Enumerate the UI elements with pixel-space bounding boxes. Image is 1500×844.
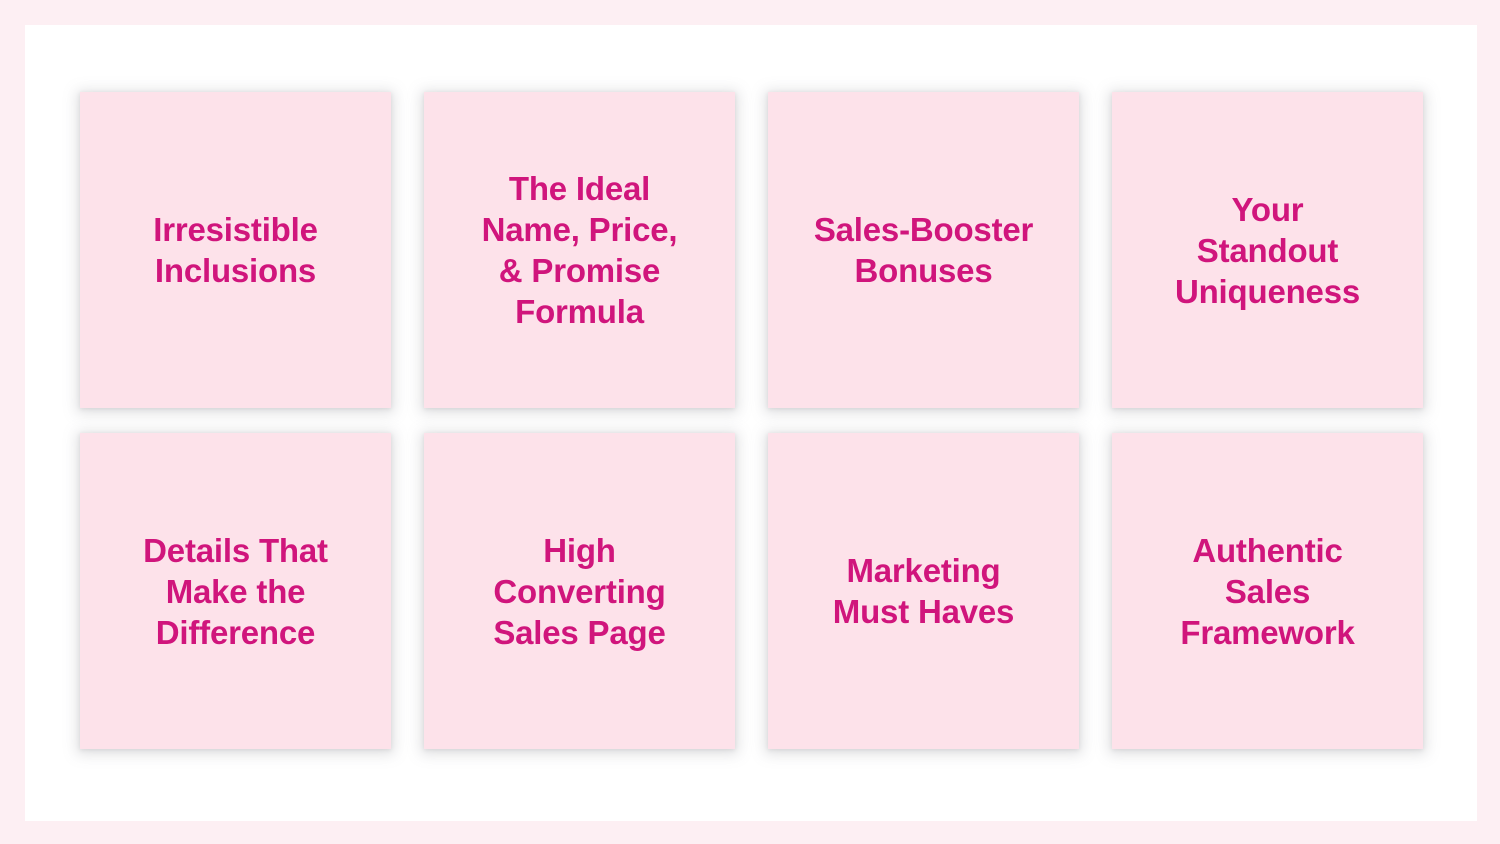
module-card-authentic-sales-framework[interactable]: Authentic Sales Framework (1112, 433, 1423, 749)
module-card-irresistible-inclusions[interactable]: Irresistible Inclusions (80, 92, 391, 408)
module-card-title: Details That Make the Difference (143, 530, 328, 653)
module-card-title: Your Standout Uniqueness (1175, 189, 1360, 312)
module-card-ideal-name-price-promise-formula[interactable]: The Ideal Name, Price, & Promise Formula (424, 92, 735, 408)
module-card-title: Authentic Sales Framework (1180, 530, 1354, 653)
module-card-sales-booster-bonuses[interactable]: Sales-Booster Bonuses (768, 92, 1079, 408)
module-card-your-standout-uniqueness[interactable]: Your Standout Uniqueness (1112, 92, 1423, 408)
module-card-title: High Converting Sales Page (493, 530, 665, 653)
module-card-grid: Irresistible Inclusions The Ideal Name, … (80, 92, 1422, 754)
module-card-high-converting-sales-page[interactable]: High Converting Sales Page (424, 433, 735, 749)
white-panel: Irresistible Inclusions The Ideal Name, … (25, 25, 1477, 821)
module-card-title: Sales-Booster Bonuses (814, 209, 1033, 291)
module-card-marketing-must-haves[interactable]: Marketing Must Haves (768, 433, 1079, 749)
module-card-title: Marketing Must Haves (833, 550, 1014, 632)
module-card-title: Irresistible Inclusions (153, 209, 318, 291)
module-card-details-that-make-the-difference[interactable]: Details That Make the Difference (80, 433, 391, 749)
module-card-title: The Ideal Name, Price, & Promise Formula (482, 168, 678, 332)
